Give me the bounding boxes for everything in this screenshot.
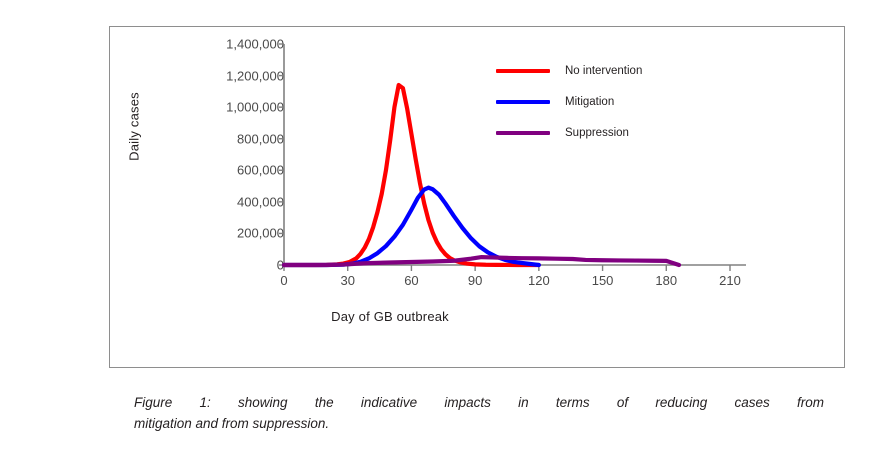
x-tick-label: 120 (528, 273, 550, 288)
figure-caption-line-2: mitigation and from suppression. (134, 413, 824, 434)
x-tick-label: 180 (655, 273, 677, 288)
figure-caption-line-1: Figure 1: showing the indicative impacts… (134, 392, 824, 413)
series-line (284, 188, 539, 265)
legend-item: No intervention (496, 55, 736, 86)
x-tick-label: 30 (340, 273, 354, 288)
legend-item: Suppression (496, 117, 736, 148)
legend-label: Suppression (565, 127, 629, 139)
figure-caption: Figure 1: showing the indicative impacts… (134, 392, 824, 434)
x-tick-label: 210 (719, 273, 741, 288)
x-tick-label: 0 (280, 273, 287, 288)
x-axis-title: Day of GB outbreak (110, 309, 670, 324)
figure-frame: Daily cases 0200,000400,000600,000800,00… (109, 26, 845, 368)
legend-label: Mitigation (565, 96, 614, 108)
legend-color-swatch (496, 131, 550, 135)
chart-legend: No interventionMitigationSuppression (496, 55, 736, 148)
legend-color-swatch (496, 100, 550, 104)
x-tick-label: 90 (468, 273, 482, 288)
x-tick-label: 60 (404, 273, 418, 288)
legend-label: No intervention (565, 65, 642, 77)
legend-item: Mitigation (496, 86, 736, 117)
x-tick-label: 150 (592, 273, 614, 288)
legend-color-swatch (496, 69, 550, 73)
chart-area: Daily cases 0200,000400,000600,000800,00… (110, 27, 846, 369)
